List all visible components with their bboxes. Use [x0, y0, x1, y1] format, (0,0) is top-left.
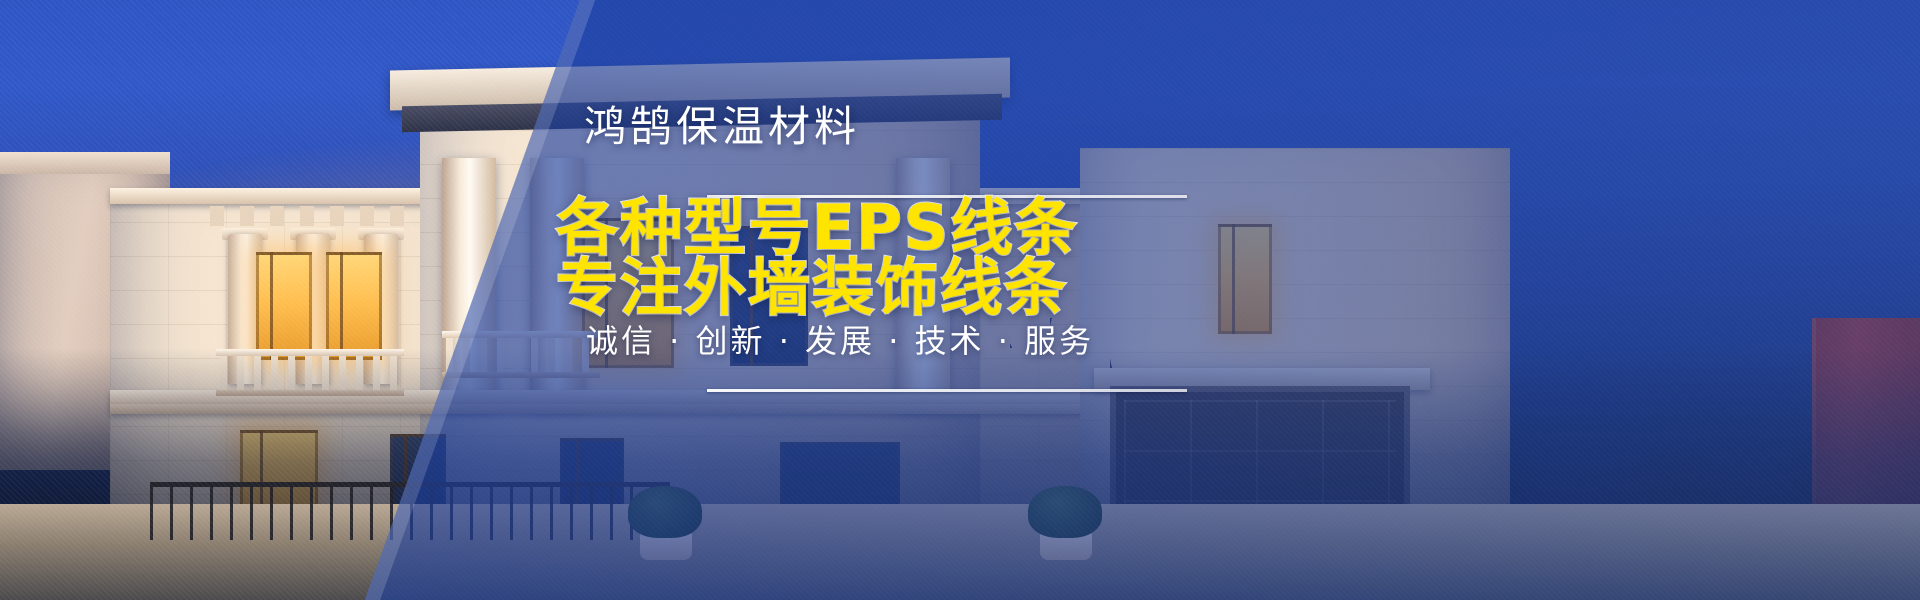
tagline: 诚信 · 创新 · 发展 · 技术 · 服务: [586, 325, 1094, 357]
headline-line-2: 专注外墙装饰线条: [556, 256, 1068, 319]
headline-line-1: 各种型号EPS线条: [556, 196, 1078, 259]
divider-bottom: [707, 389, 1187, 392]
hero-banner: 鸿鹄保温材料 各种型号EPS线条 专注外墙装饰线条 诚信 · 创新 · 发展 ·…: [0, 0, 1920, 600]
brand-name: 鸿鹄保温材料: [584, 106, 860, 148]
banner-content: 鸿鹄保温材料 各种型号EPS线条 专注外墙装饰线条 诚信 · 创新 · 发展 ·…: [0, 0, 1920, 600]
